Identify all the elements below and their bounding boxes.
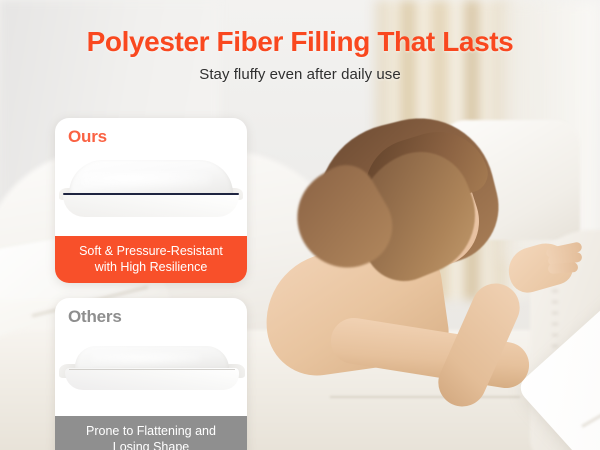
model-finger-3 — [548, 262, 579, 274]
others-caption-line-2: Losing Shape — [63, 439, 239, 450]
ours-pillow-bottom — [63, 193, 239, 217]
ours-pillow-piping — [63, 193, 239, 195]
others-pillow-illustration — [63, 346, 241, 396]
ours-card-label: Ours — [68, 127, 107, 147]
others-pillow-bottom — [65, 368, 239, 390]
others-pillow-highlight — [91, 352, 201, 364]
page-subtitle: Stay fluffy even after daily use — [0, 66, 600, 83]
comparison-card-ours: Ours Soft & Pressure-Resistant with High… — [55, 118, 247, 283]
ours-card-caption: Soft & Pressure-Resistant with High Resi… — [55, 236, 247, 283]
others-card-visual: Others — [55, 298, 247, 416]
ours-pillow-illustration — [61, 160, 241, 222]
ours-card-visual: Ours — [55, 118, 247, 236]
page-title: Polyester Fiber Filling That Lasts — [0, 26, 600, 57]
others-pillow-seam — [69, 369, 235, 370]
ours-caption-line-2: with High Resilience — [63, 259, 239, 275]
others-caption-line-1: Prone to Flattening and — [63, 423, 239, 439]
model-photo — [260, 100, 600, 450]
headline-block: Polyester Fiber Filling That Lasts Stay … — [0, 26, 600, 83]
comparison-cards: Ours Soft & Pressure-Resistant with High… — [55, 118, 247, 450]
comparison-card-others: Others Prone to Flattening and Losing Sh… — [55, 298, 247, 450]
ad-banner: Polyester Fiber Filling That Lasts Stay … — [0, 0, 600, 450]
ours-pillow-highlight — [81, 172, 211, 188]
ours-caption-line-1: Soft & Pressure-Resistant — [63, 243, 239, 259]
others-card-caption: Prone to Flattening and Losing Shape — [55, 416, 247, 450]
others-card-label: Others — [68, 307, 122, 327]
